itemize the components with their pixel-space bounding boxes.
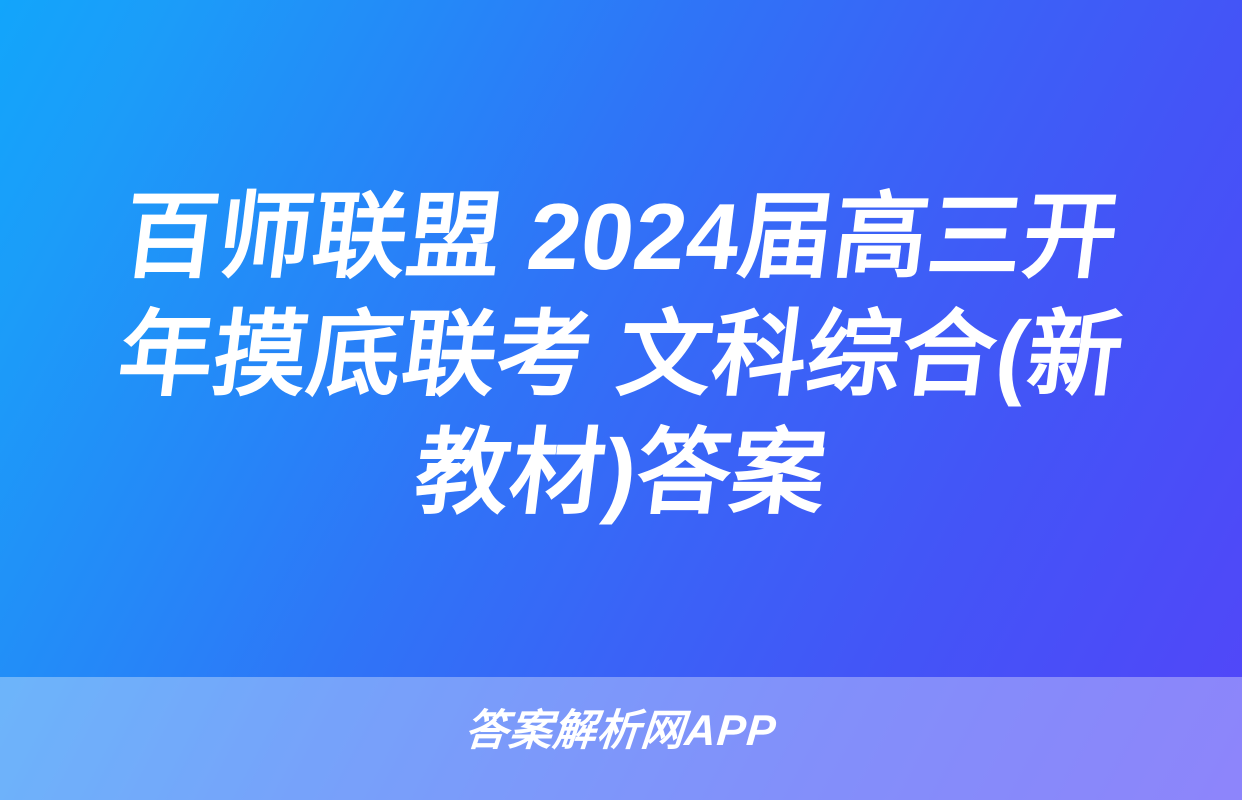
title-line-2: 年摸底联考 文科综合(新: [55, 296, 1187, 414]
watermark-label: 答案解析网APP: [463, 706, 779, 756]
title-line-1: 百师联盟 2024届高三开: [55, 178, 1187, 296]
title-line-3: 教材)答案: [55, 414, 1187, 532]
page-title: 百师联盟 2024届高三开 年摸底联考 文科综合(新 教材)答案: [0, 178, 1242, 532]
watermark: 答案解析网APP: [0, 706, 1242, 756]
poster-canvas: 百师联盟 2024届高三开 年摸底联考 文科综合(新 教材)答案 答案解析网AP…: [0, 0, 1242, 800]
